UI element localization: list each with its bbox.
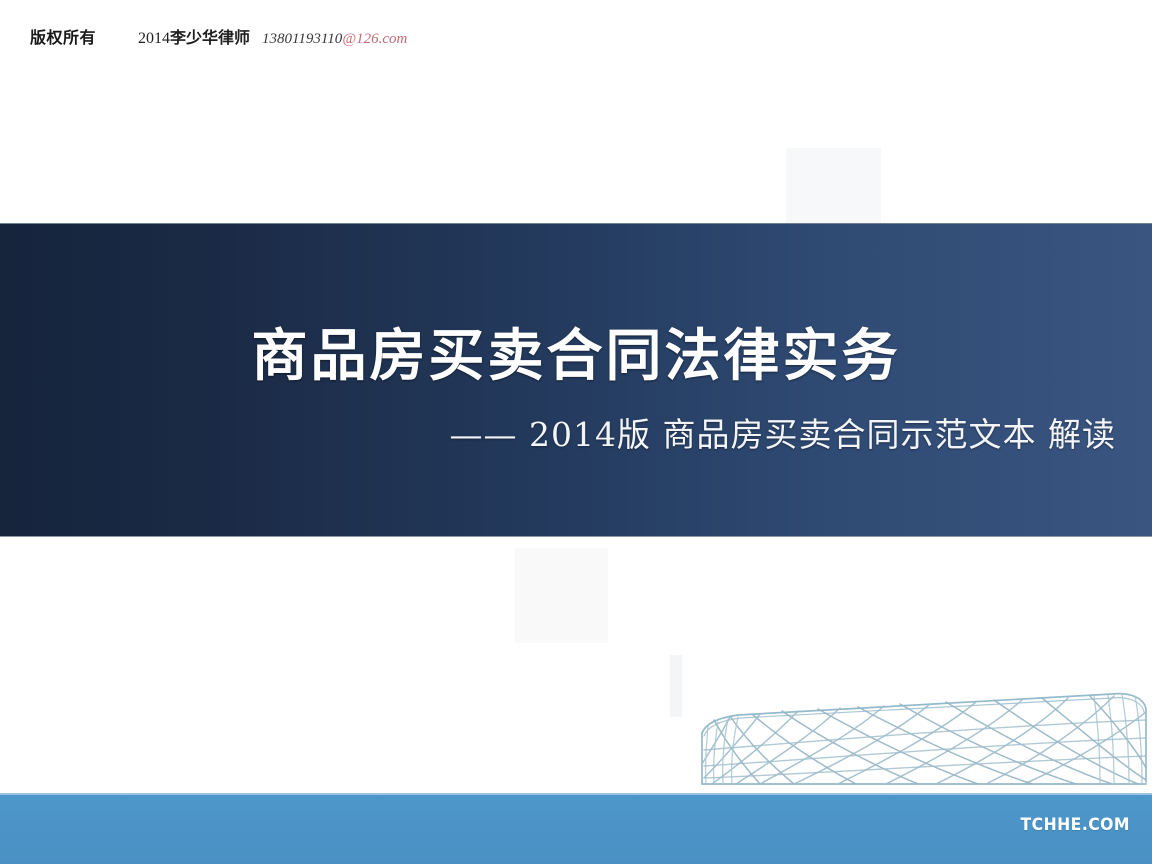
page-subtitle: —— 2014版 商品房买卖合同示范文本 解读 [0,415,1152,455]
author-email: 13801193110@126.com [262,31,407,48]
footer-bar: TCHHE.COM [0,793,1152,864]
brand-wordmark[interactable]: TCHHE.COM [1021,815,1130,835]
author-name: 李少华律师 [170,28,250,47]
page-title: 商品房买卖合同法律实务 [0,328,1152,384]
author-credit: 2014李少华律师 [138,24,250,48]
background-wash-small [670,655,682,717]
email-domain-part: @126.com [342,31,407,47]
birds-nest-stadium-icon [694,678,1152,796]
copyright-header: 版权所有 2014李少华律师 13801193110@126.com [0,24,1152,58]
background-wash-center [515,548,608,643]
slide-canvas: 版权所有 2014李少华律师 13801193110@126.com 商品房买卖… [0,0,1152,864]
email-local-part: 13801193110 [262,31,342,47]
copyright-label: 版权所有 [30,24,96,48]
author-year: 2014 [138,30,170,47]
